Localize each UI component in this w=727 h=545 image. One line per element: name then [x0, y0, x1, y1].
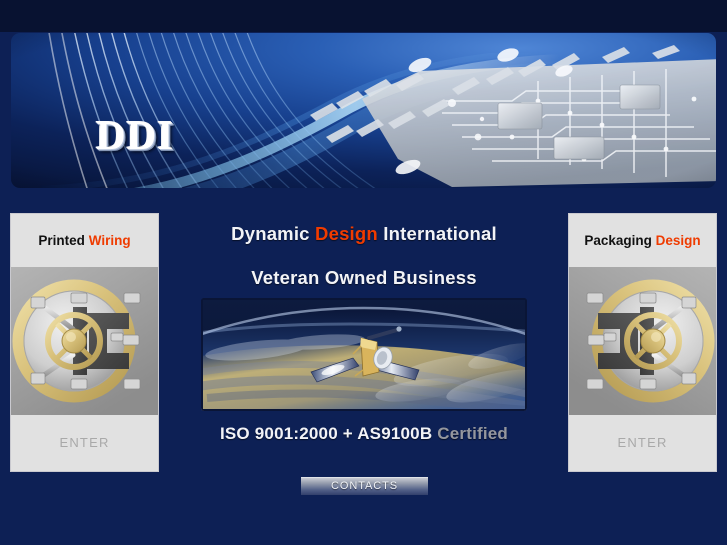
printed-wiring-title-accent: Wiring — [89, 233, 131, 248]
page-background: DDI Printed Wiring — [0, 0, 727, 545]
packaging-design-enter-button[interactable]: ENTER — [569, 415, 716, 471]
iso-standards: ISO 9001:2000 + AS9100B — [220, 424, 432, 443]
company-headline: Dynamic Design International — [170, 223, 558, 245]
printed-wiring-enter-button[interactable]: ENTER — [11, 415, 158, 471]
headline-part2: International — [383, 223, 497, 244]
printed-wiring-panel[interactable]: Printed Wiring — [11, 214, 158, 471]
packaging-design-title-main: Packaging — [584, 233, 652, 248]
ddi-logo: DDI — [96, 115, 174, 156]
center-content: Dynamic Design International Veteran Own… — [170, 214, 558, 514]
vault-door-icon-mirrored — [569, 267, 716, 415]
iso-certification-text: ISO 9001:2000 + AS9100B Certified — [170, 424, 558, 444]
top-band — [0, 0, 727, 32]
packaging-design-panel[interactable]: Packaging Design — [569, 214, 716, 471]
contacts-button[interactable]: CONTACTS — [301, 477, 428, 495]
headline-part1: Dynamic — [231, 223, 310, 244]
packaging-design-title: Packaging Design — [569, 214, 716, 267]
satellite-earth-image — [201, 298, 527, 411]
printed-wiring-title: Printed Wiring — [11, 214, 158, 267]
iso-certified-word: Certified — [437, 424, 508, 443]
vault-door-icon — [11, 267, 158, 415]
printed-wiring-title-main: Printed — [38, 233, 85, 248]
packaging-design-title-accent: Design — [656, 233, 701, 248]
header-banner: DDI — [11, 33, 716, 188]
banner-vignette — [11, 33, 716, 188]
headline-accent: Design — [315, 223, 378, 244]
veteran-owned-subline: Veteran Owned Business — [170, 267, 558, 289]
